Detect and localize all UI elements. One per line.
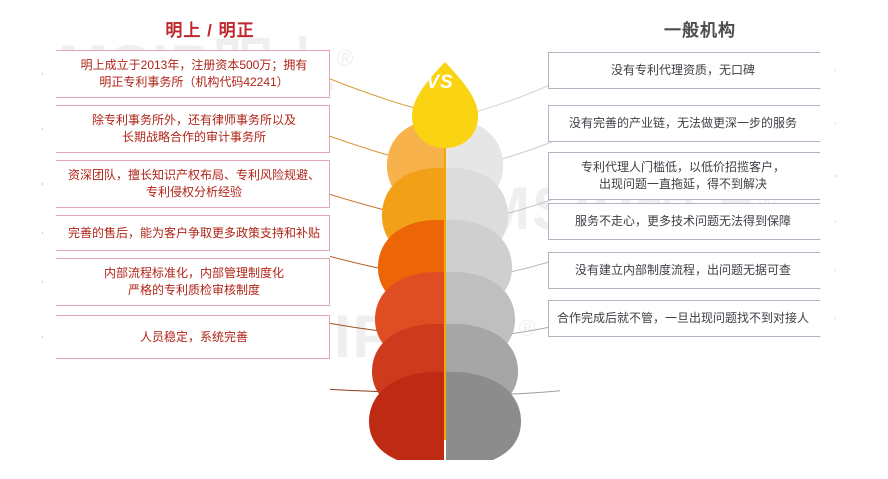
left-item-5-line-1: 内部流程标准化，内部管理制度化 (104, 265, 284, 282)
vs-badge-shape (412, 62, 478, 148)
left-item-5-line-2: 严格的专利质检审核制度 (104, 282, 284, 299)
left-item-2-text: 除专利事务所外，还有律师事务所以及 长期战略合作的审计事务所 (86, 112, 302, 146)
left-leaf-group (369, 120, 444, 460)
right-item-3-line-1: 专利代理人门槛低，以低价招揽客户， (581, 159, 785, 176)
wheat-ear-graphic (330, 40, 560, 460)
left-item-5-text: 内部流程标准化，内部管理制度化 严格的专利质检审核制度 (98, 265, 290, 299)
left-item-1-line-1: 明上成立于2013年，注册资本500万；拥有 (81, 57, 308, 74)
right-item-5-text: 没有建立内部制度流程，出问题无据可查 (569, 262, 797, 279)
right-item-4[interactable]: 服务不走心，更多技术问题无法得到保障 (548, 203, 836, 240)
right-item-4-line-1: 服务不走心，更多技术问题无法得到保障 (575, 213, 791, 230)
right-item-2[interactable]: 没有完善的产业链，无法做更深一步的服务 (548, 105, 836, 142)
right-item-1-line-1: 没有专利代理资质，无口碑 (611, 62, 755, 79)
left-item-3-line-1: 资深团队，擅长知识产权布局、专利风险规避、 (68, 167, 320, 184)
left-item-1[interactable]: 明上成立于2013年，注册资本500万；拥有 明正专利事务所（机构代码42241… (42, 50, 330, 98)
infographic-canvas: MSIP明上® MSIP明上® MSIP明上® (0, 0, 888, 479)
left-item-4[interactable]: 完善的售后，能为客户争取更多政策支持和补贴 (42, 215, 330, 251)
right-item-6-line-1: 合作完成后就不管，一旦出现问题找不到对接人 (557, 310, 809, 327)
right-item-2-text: 没有完善的产业链，无法做更深一步的服务 (563, 115, 803, 132)
right-item-5-line-1: 没有建立内部制度流程，出问题无据可查 (575, 262, 791, 279)
left-item-2[interactable]: 除专利事务所外，还有律师事务所以及 长期战略合作的审计事务所 (42, 105, 330, 153)
right-item-6-text: 合作完成后就不管，一旦出现问题找不到对接人 (551, 310, 815, 327)
right-item-1-text: 没有专利代理资质，无口碑 (605, 62, 761, 79)
left-item-2-line-1: 除专利事务所外，还有律师事务所以及 (92, 112, 296, 129)
right-item-3[interactable]: 专利代理人门槛低，以低价招揽客户， 出现问题一直拖延，得不到解决 (548, 152, 836, 200)
left-item-6-text: 人员稳定，系统完善 (134, 329, 254, 346)
right-item-6[interactable]: 合作完成后就不管，一旦出现问题找不到对接人 (548, 300, 836, 337)
left-item-5[interactable]: 内部流程标准化，内部管理制度化 严格的专利质检审核制度 (42, 258, 330, 306)
left-item-2-line-2: 长期战略合作的审计事务所 (92, 129, 296, 146)
right-column-title: 一般机构 (550, 16, 850, 41)
left-item-4-text: 完善的售后，能为客户争取更多政策支持和补贴 (62, 225, 326, 242)
left-item-4-line-1: 完善的售后，能为客户争取更多政策支持和补贴 (68, 225, 320, 242)
left-item-6-line-1: 人员稳定，系统完善 (140, 329, 248, 346)
left-item-3[interactable]: 资深团队，擅长知识产权布局、专利风险规避、 专利侵权分析经验 (42, 160, 330, 208)
right-item-5[interactable]: 没有建立内部制度流程，出问题无据可查 (548, 252, 836, 289)
left-column-title: 明上 / 明正 (60, 16, 360, 41)
right-item-4-text: 服务不走心，更多技术问题无法得到保障 (569, 213, 797, 230)
left-item-3-text: 资深团队，擅长知识产权布局、专利风险规避、 专利侵权分析经验 (62, 167, 326, 201)
right-item-1[interactable]: 没有专利代理资质，无口碑 (548, 52, 836, 89)
left-item-1-text: 明上成立于2013年，注册资本500万；拥有 明正专利事务所（机构代码42241… (75, 57, 314, 91)
right-item-3-text: 专利代理人门槛低，以低价招揽客户， 出现问题一直拖延，得不到解决 (575, 159, 791, 193)
right-item-2-line-1: 没有完善的产业链，无法做更深一步的服务 (569, 115, 797, 132)
left-item-6[interactable]: 人员稳定，系统完善 (42, 315, 330, 359)
right-item-3-line-2: 出现问题一直拖延，得不到解决 (581, 176, 785, 193)
left-item-1-line-2: 明正专利事务所（机构代码42241） (81, 74, 308, 91)
left-item-3-line-2: 专利侵权分析经验 (68, 184, 320, 201)
right-leaf-group (446, 120, 521, 460)
